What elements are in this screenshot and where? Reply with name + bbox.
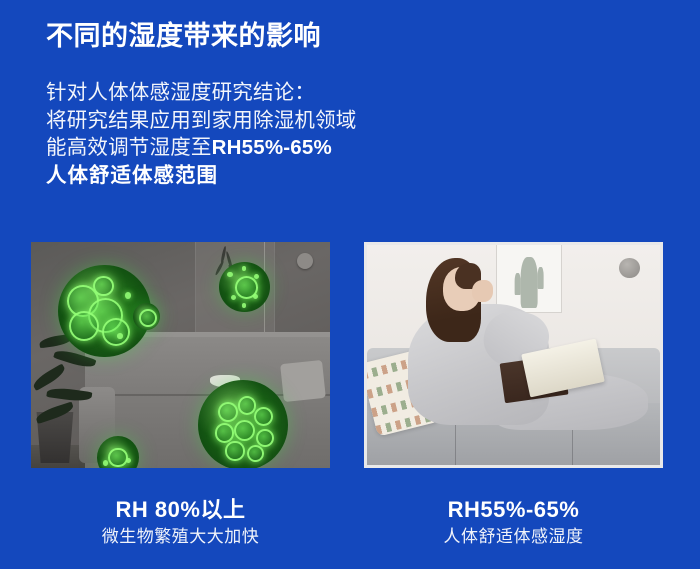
body-line-2: 将研究结果应用到家用除湿机领域 xyxy=(46,107,357,135)
panel-image-comfort-humidity xyxy=(364,242,663,468)
humidity-infographic: 不同的湿度带来的影响 针对人体体感湿度研究结论： 将研究结果应用到家用除湿机领域… xyxy=(0,0,700,569)
scene-microbes xyxy=(31,242,330,468)
person-hand xyxy=(472,280,493,302)
cactus-arm xyxy=(515,273,521,294)
microbe-bottom-edge xyxy=(97,436,139,468)
humidity-range-highlight: RH55%-65% xyxy=(212,136,332,159)
body-line-3: 能高效调节湿度至RH55%-65% xyxy=(46,134,357,162)
wall-art-cactus xyxy=(496,245,562,313)
microbe-large-bottom xyxy=(198,380,288,468)
body-line-4: 人体舒适体感范围 xyxy=(46,162,357,190)
cactus-body xyxy=(521,257,538,308)
body-line-1: 针对人体体感湿度研究结论： xyxy=(46,79,357,107)
page-title: 不同的湿度带来的影响 xyxy=(46,19,321,53)
caption-comfort-humidity: RH55%-65% 人体舒适体感湿度 xyxy=(364,496,663,549)
panel-image-high-humidity xyxy=(31,242,330,468)
cactus-arm xyxy=(538,267,544,288)
microbe-small-top xyxy=(219,262,270,312)
microbe-tiny xyxy=(133,303,160,330)
caption-subtitle: 人体舒适体感湿度 xyxy=(364,524,663,549)
caption-subtitle: 微生物繁殖大大加快 xyxy=(31,524,330,549)
sofa-cushion xyxy=(280,360,326,403)
wall-speaker xyxy=(619,258,640,278)
caption-high-humidity: RH 80%以上 微生物繁殖大大加快 xyxy=(31,496,330,549)
body-line-3-prefix: 能高效调节湿度至 xyxy=(46,136,212,159)
body-copy: 针对人体体感湿度研究结论： 将研究结果应用到家用除湿机领域 能高效调节湿度至RH… xyxy=(46,79,357,189)
caption-title: RH 80%以上 xyxy=(31,496,330,524)
caption-title: RH55%-65% xyxy=(364,496,663,524)
scene-woman-reading xyxy=(367,245,660,465)
